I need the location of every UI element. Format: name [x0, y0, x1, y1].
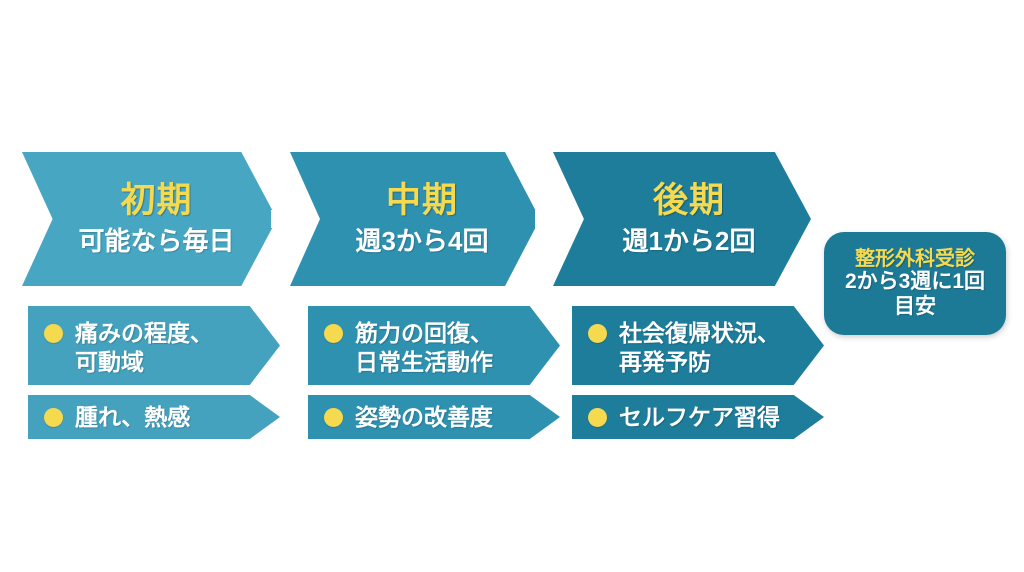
bullet-dot-icon: [324, 408, 343, 427]
checkpoint-label: 痛みの程度、 可動域: [75, 319, 213, 376]
checkpoint-label: 社会復帰状況、 再発予防: [619, 319, 780, 376]
bullet-dot-icon: [44, 408, 63, 427]
phase-banner-late: 後期 週1から2回: [553, 152, 811, 286]
phase-frequency: 週1から2回: [623, 227, 756, 256]
checkpoint-item: セルフケア習得: [572, 395, 824, 439]
checkpoint-item: 腫れ、熱感: [28, 395, 280, 439]
phase-frequency: 可能なら毎日: [78, 227, 234, 256]
callout-title: 整形外科受診: [855, 248, 975, 270]
checkpoint-item: 痛みの程度、 可動域: [28, 306, 280, 385]
arrow-right-icon: [265, 196, 311, 242]
checkpoint-item: 社会復帰状況、 再発予防: [572, 306, 824, 385]
checkpoint-label: 腫れ、熱感: [75, 403, 190, 432]
checkpoint-label: 筋力の回復、 日常生活動作: [355, 319, 493, 376]
phase-banner-initial: 初期 可能なら毎日: [22, 152, 277, 286]
phase-frequency: 週3から4回: [356, 227, 489, 256]
phase-title: 中期: [386, 183, 458, 220]
phase-banner-middle: 中期 週3から4回: [290, 152, 540, 286]
callout-note: 目安: [894, 295, 936, 320]
orthopedic-visit-callout: 整形外科受診 2から3週に1回 目安: [824, 232, 1006, 335]
phase-title: 初期: [120, 183, 192, 220]
checkpoint-label: 姿勢の改善度: [355, 403, 493, 432]
bullet-dot-icon: [588, 324, 607, 343]
callout-interval: 2から3週に1回: [845, 270, 985, 295]
bullet-dot-icon: [44, 324, 63, 343]
arrow-right-icon: [529, 196, 575, 242]
checkpoint-item: 筋力の回復、 日常生活動作: [308, 306, 560, 385]
diagram-canvas: 初期 可能なら毎日 中期 週3から4回 後期 週1から2回 整形外科受診 2から…: [0, 0, 1024, 572]
phase-title: 後期: [653, 183, 725, 220]
checkpoint-item: 姿勢の改善度: [308, 395, 560, 439]
bullet-dot-icon: [588, 408, 607, 427]
checkpoint-label: セルフケア習得: [619, 403, 780, 432]
bullet-dot-icon: [324, 324, 343, 343]
